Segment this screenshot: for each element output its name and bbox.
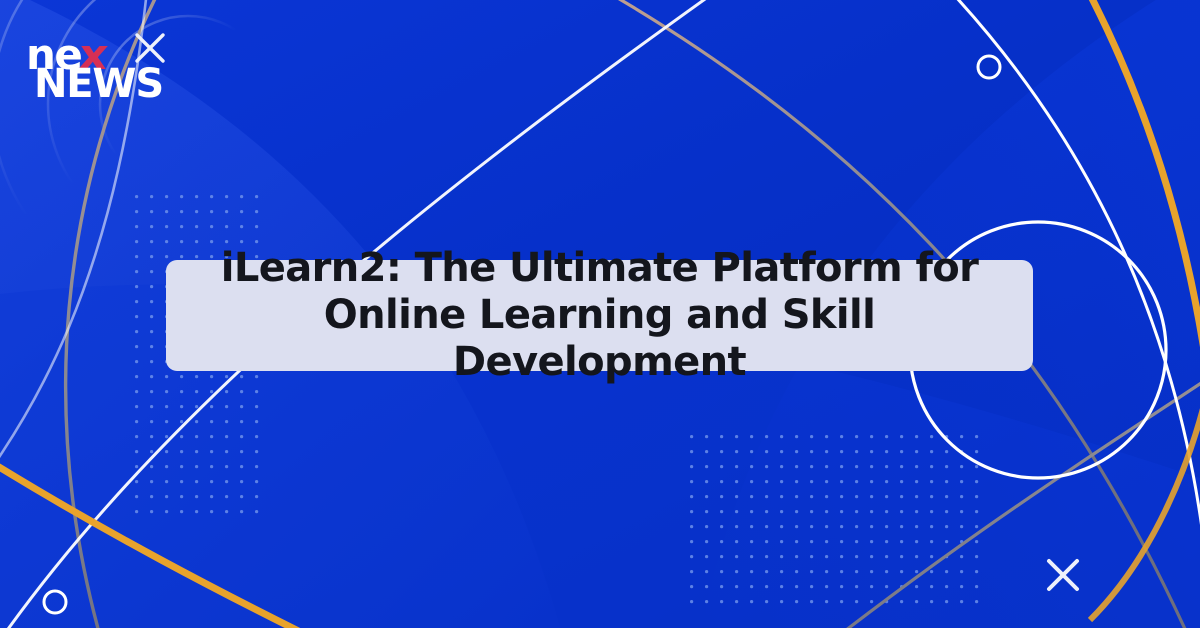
nexnews-logo[interactable]: nex NEWS	[26, 34, 206, 114]
cross-mark-icon-bottom-right	[1049, 561, 1077, 589]
headline-text: iLearn2: The Ultimate Platform for Onlin…	[166, 245, 1033, 385]
promo-banner: nex NEWS iLearn2: The Ultimate Platform …	[0, 0, 1200, 628]
logo-line-news: NEWS	[34, 64, 163, 104]
circle-outline-icon-bottom-left	[44, 591, 66, 613]
headline-card: iLearn2: The Ultimate Platform for Onlin…	[166, 260, 1033, 371]
circle-outline-icon-top-right	[978, 56, 1000, 78]
